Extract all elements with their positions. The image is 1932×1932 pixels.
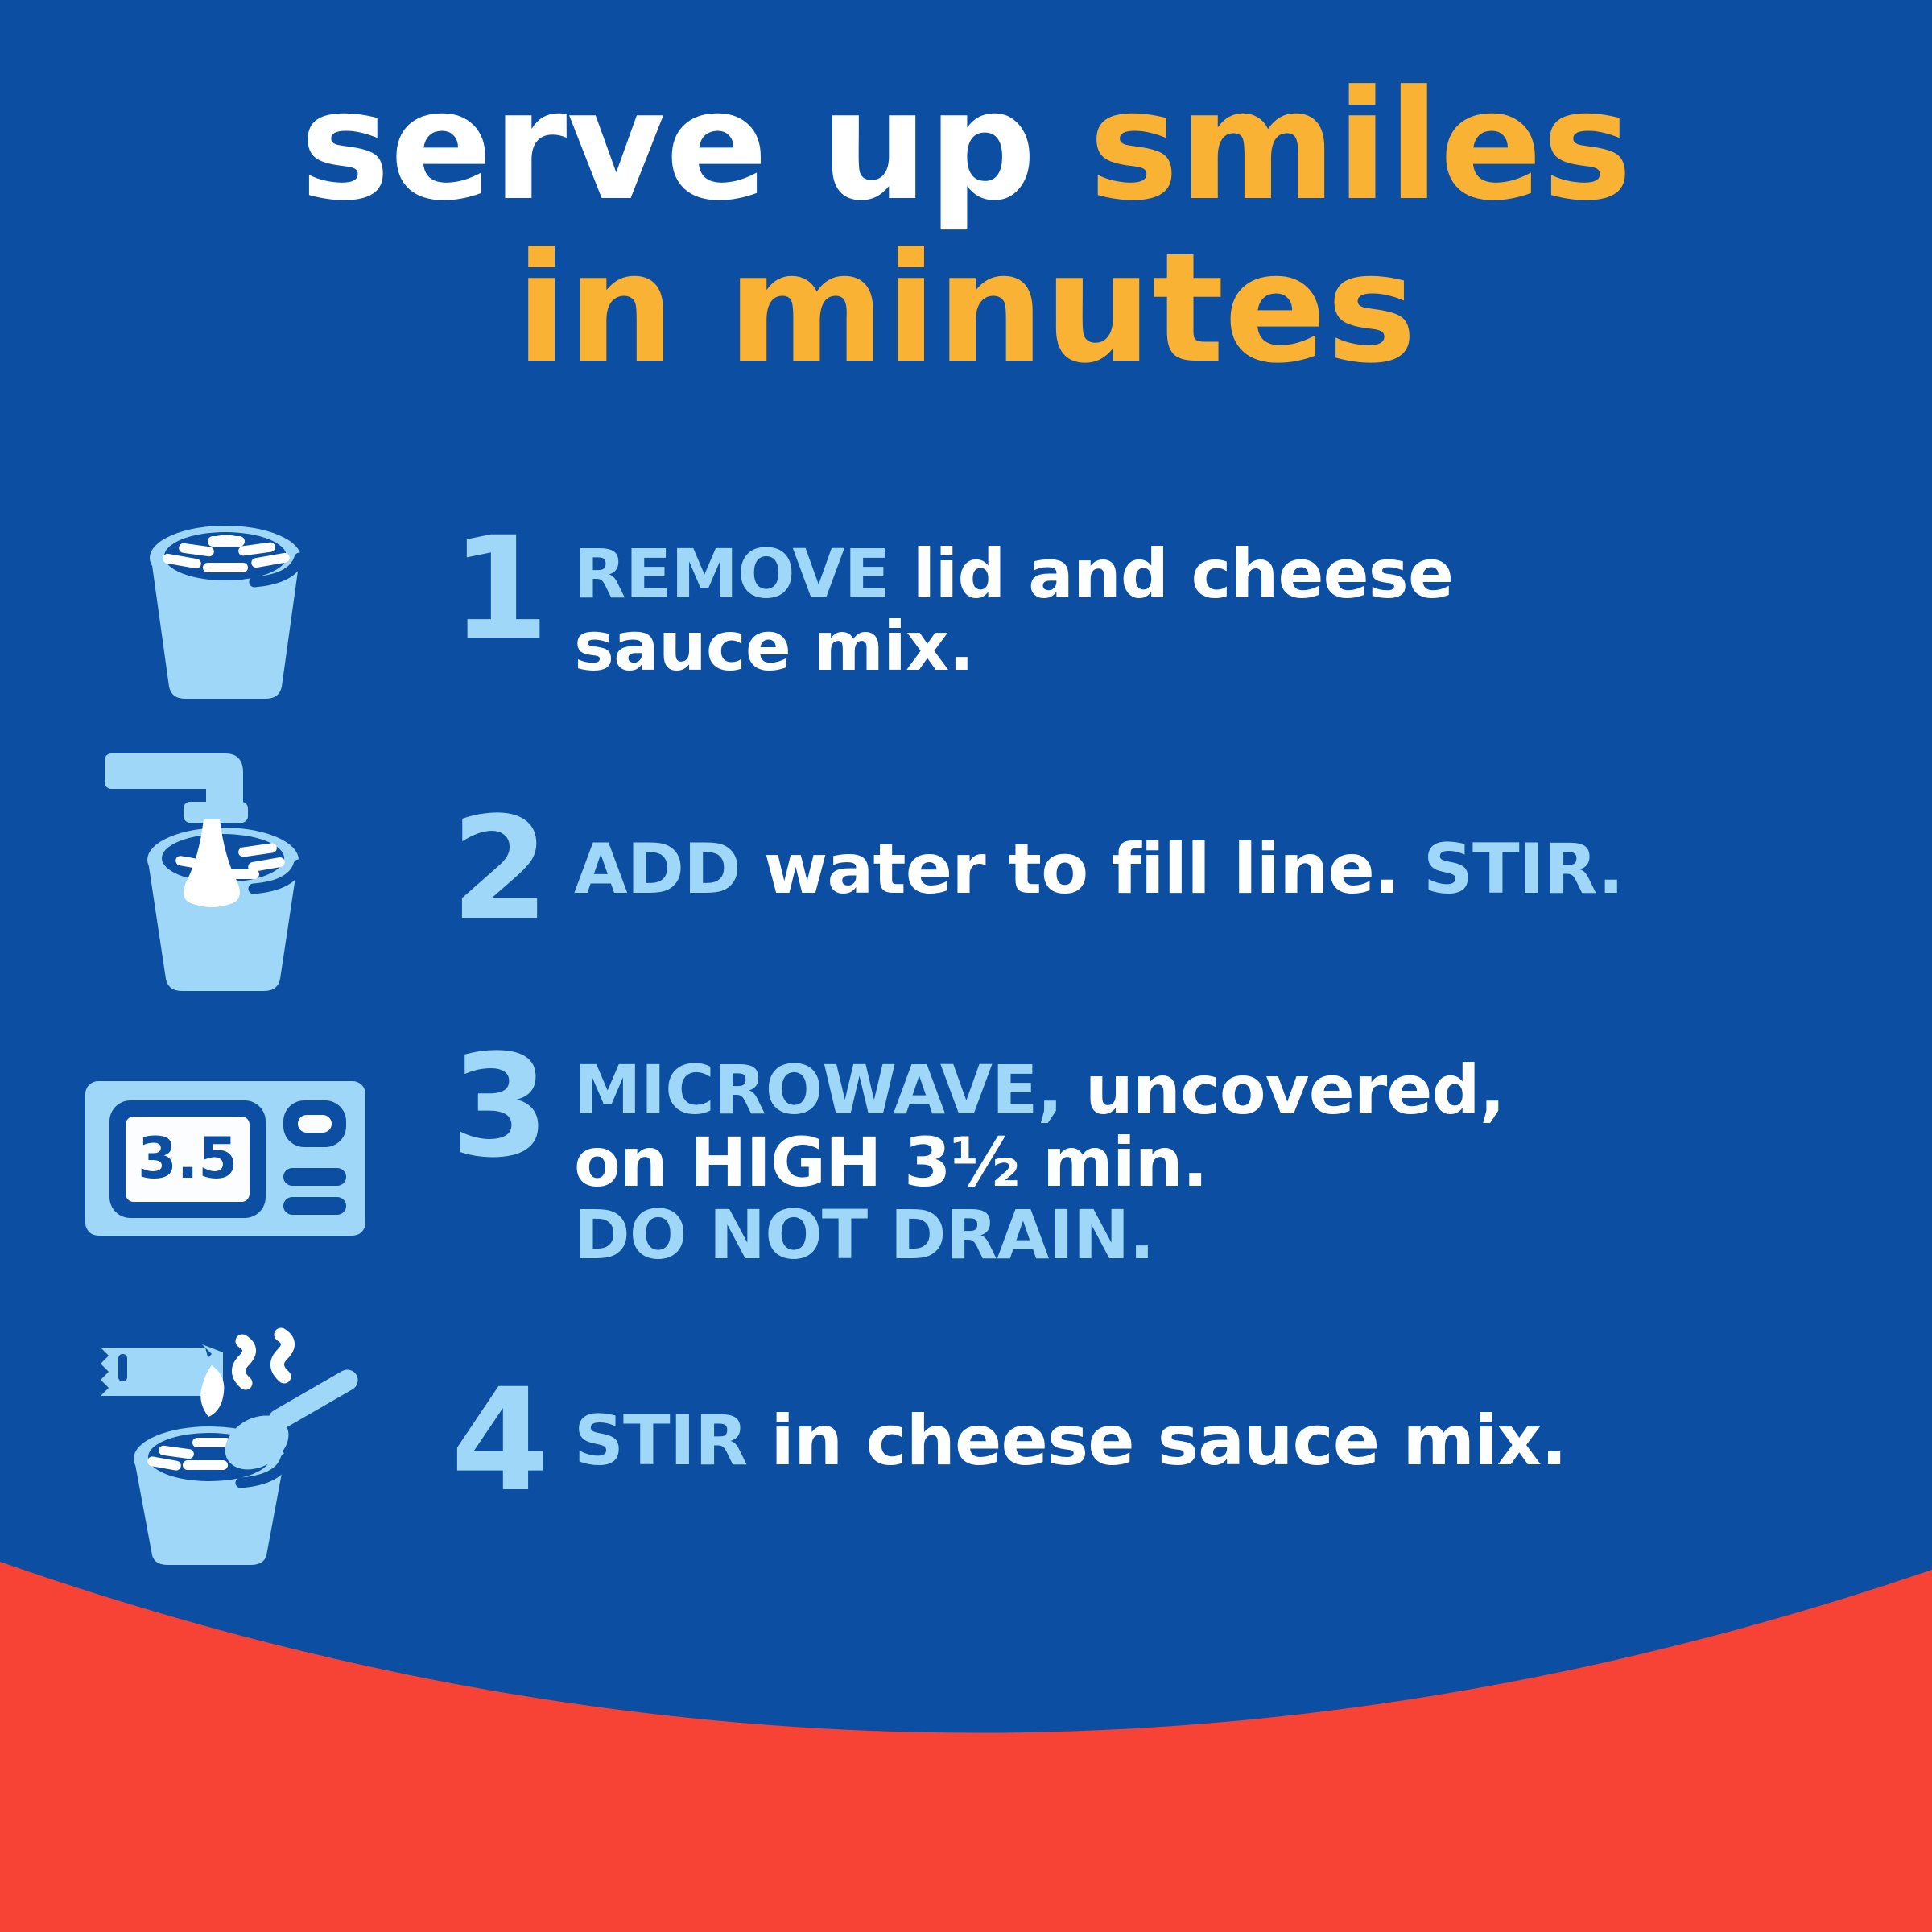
headline-serve-up: serve up (300, 58, 1089, 234)
step-body-3: 3 MICROWAVE, uncovered, on HIGH 3½ min. … (451, 1046, 1932, 1272)
step-row-1: 1 REMOVE lid and cheese sauce mix. (0, 483, 1932, 724)
step-1-line-1: REMOVE lid and cheese (574, 539, 1453, 611)
bottom-red-wave (0, 1513, 1932, 1932)
step-3-rest: uncovered, (1063, 1051, 1505, 1129)
microwave-display-value: 3.5 (138, 1125, 237, 1191)
cup-noodles-icon (0, 483, 451, 724)
step-2-keyword: ADD (574, 829, 741, 910)
step-1-keyword: REMOVE (574, 535, 890, 613)
step-3-keyword: MICROWAVE, (574, 1051, 1063, 1129)
step-number-3: 3 (451, 1042, 547, 1172)
step-text-2: ADD water to fill line. STIR. (574, 832, 1624, 906)
microwave-icon: 3.5 (0, 1014, 451, 1304)
step-number-2: 2 (451, 804, 547, 935)
headline-line-1: serve up smiles (0, 71, 1932, 222)
step-3-line-2: on HIGH 3½ min. (574, 1127, 1505, 1199)
step-4-keyword: STIR (574, 1401, 747, 1481)
step-2-stir: STIR. (1400, 829, 1624, 910)
step-1-rest: lid and cheese (890, 535, 1453, 613)
headline: serve up smiles in minutes (0, 71, 1932, 385)
step-3-line-1: MICROWAVE, uncovered, (574, 1055, 1505, 1127)
step-body-4: 4 STIR in cheese sauce mix. (451, 1376, 1932, 1506)
faucet-filling-cup-icon (0, 724, 451, 1014)
step-2-mid: water to fill line (741, 829, 1374, 910)
steps-list: 1 REMOVE lid and cheese sauce mix. (0, 483, 1932, 1578)
step-row-3: 3.5 3 MICROWAVE, uncovered, on HIGH 3½ m… (0, 1014, 1932, 1304)
step-3-line-3: DO NOT DRAIN. (574, 1199, 1505, 1272)
headline-line-2: in minutes (0, 233, 1932, 385)
step-row-2: 2 ADD water to fill line. STIR. (0, 724, 1932, 1014)
step-4-rest: in cheese sauce mix. (747, 1401, 1567, 1481)
step-text-1: REMOVE lid and cheese sauce mix. (574, 539, 1453, 683)
step-number-1: 1 (451, 524, 547, 654)
instructions-poster: serve up smiles in minutes (0, 0, 1932, 1932)
step-text-3: MICROWAVE, uncovered, on HIGH 3½ min. DO… (574, 1055, 1505, 1272)
step-4-line-1: STIR in cheese sauce mix. (574, 1404, 1567, 1478)
step-body-1: 1 REMOVE lid and cheese sauce mix. (451, 524, 1932, 683)
headline-smiles: smiles (1088, 58, 1632, 234)
step-body-2: 2 ADD water to fill line. STIR. (451, 804, 1932, 935)
step-1-line-2: sauce mix. (574, 611, 1453, 683)
step-2-period: . (1374, 829, 1400, 910)
step-number-4: 4 (451, 1376, 547, 1506)
step-2-line-1: ADD water to fill line. STIR. (574, 832, 1624, 906)
step-text-4: STIR in cheese sauce mix. (574, 1404, 1567, 1478)
